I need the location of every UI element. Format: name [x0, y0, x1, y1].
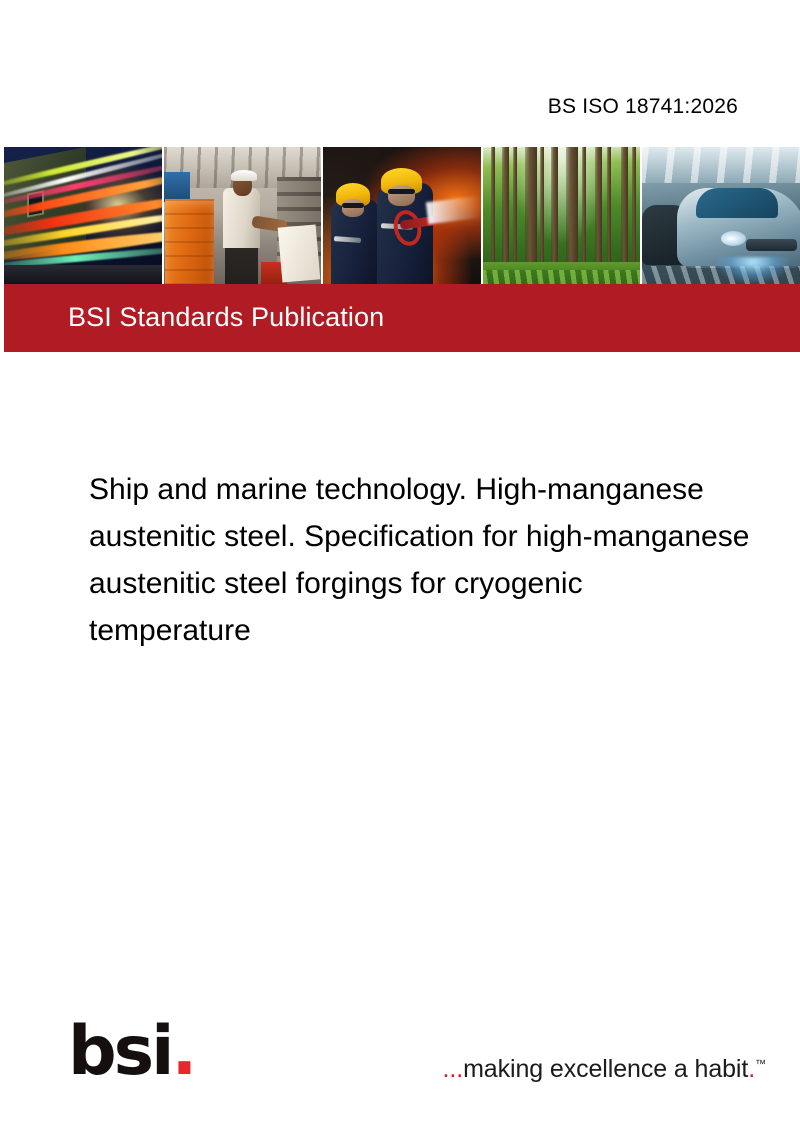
firefighter-visor — [388, 189, 415, 194]
road-surface — [4, 265, 162, 284]
bsi-logo-dot: . — [171, 1012, 194, 1091]
tree-trunk — [632, 147, 636, 273]
page-title-line: Ship and marine technology. High-mangane… — [89, 466, 800, 513]
cardboard-box — [278, 225, 320, 283]
tagline-text: making excellence a habit — [463, 1055, 748, 1083]
standard-cover-page: BS ISO 18741:2026 — [0, 0, 800, 1132]
standard-number: BS ISO 18741:2026 — [548, 95, 738, 119]
bsi-logo-text: bsi — [68, 1012, 171, 1091]
page-title-line: austenitic steel forgings for cryogenic — [89, 560, 800, 607]
bsi-logo: bsi. — [68, 1018, 194, 1086]
photo-panel-car-assembly-line — [642, 147, 800, 284]
car-windscreen — [696, 188, 778, 218]
cover-photo-strip — [4, 147, 800, 284]
tree-trunk — [566, 147, 578, 273]
page-title-line: temperature — [89, 607, 800, 654]
publication-banner: BSI Standards Publication — [4, 284, 800, 352]
photo-panel-warehouse-worker — [164, 147, 322, 284]
tree-trunk — [513, 147, 517, 273]
bsi-tagline: ...making excellence a habit.™ — [443, 1057, 766, 1082]
tagline-ellipsis: ... — [443, 1055, 464, 1083]
firefighter-visor — [342, 203, 364, 208]
page-title: Ship and marine technology. High-mangane… — [89, 466, 800, 654]
photo-panel-night-traffic-light-trails — [4, 147, 162, 284]
tree-trunk — [607, 147, 611, 273]
tree-trunk — [502, 147, 509, 273]
photo-panel-firefighters — [323, 147, 481, 284]
page-title-line: austenitic steel. Specification for high… — [89, 513, 800, 560]
undergrowth — [483, 270, 641, 284]
overhead-lighting — [642, 147, 800, 183]
tree-trunk — [621, 147, 628, 273]
tree-trunk — [595, 147, 602, 273]
tree-trunk — [540, 147, 544, 273]
tree-trunk — [525, 147, 537, 273]
publication-banner-label: BSI Standards Publication — [68, 302, 384, 333]
trademark-icon: ™ — [755, 1059, 766, 1071]
orange-crate-stack — [165, 199, 214, 284]
car-headlamp — [721, 231, 746, 246]
underbody-inspection-light — [715, 257, 791, 284]
worker-cap — [231, 170, 257, 181]
car-grille — [746, 239, 796, 251]
tree-trunk — [582, 147, 586, 273]
blue-container — [164, 172, 191, 202]
photo-panel-forest-trees — [483, 147, 641, 284]
firefighter-face — [388, 185, 415, 206]
tree-trunk — [551, 147, 558, 273]
tree-trunk — [491, 147, 495, 273]
